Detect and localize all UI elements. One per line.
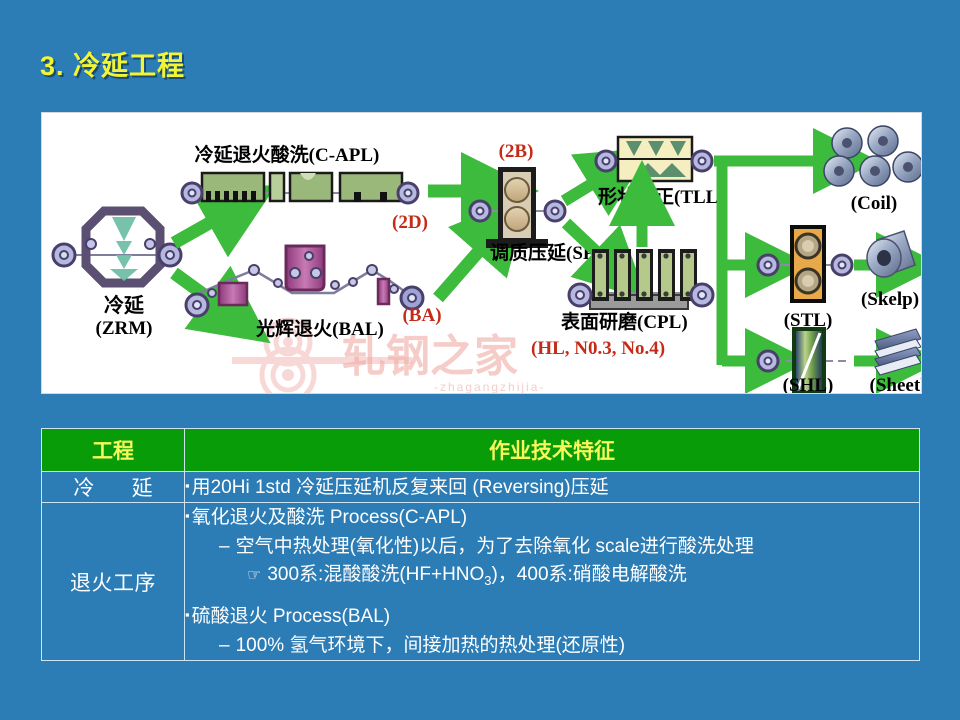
row-features: ▪氧化退火及酸洗 Process(C-APL) –空气中热处理(氧化性)以后，为… [185, 503, 920, 661]
dash-icon: – [219, 536, 230, 557]
row-process-name: 冷 延 [42, 472, 185, 503]
feature-line-a: 300系:混酸酸洗(HF+HNO [267, 564, 484, 585]
arrow-zrm-capl [174, 217, 220, 243]
feature-line: 100% 氢气环境下，间接加热的热处理(还原性) [236, 635, 626, 656]
bullet-icon: ▪ [185, 508, 190, 523]
finish-label-ba: (BA) [402, 305, 441, 326]
table-row: 退火工序 ▪氧化退火及酸洗 Process(C-APL) –空气中热处理(氧化性… [42, 503, 920, 661]
table-row: 冷 延 ▪用20Hi 1std 冷延压延机反复来回 (Reversing)压延 [42, 472, 920, 503]
product-sheet: (Sheet) [870, 329, 921, 393]
dash-icon: – [219, 635, 230, 656]
bullet-icon: ▪ [185, 478, 190, 493]
node-capl-label: 冷延退火酸洗(C-APL) [195, 143, 380, 166]
process-feature-table: 工程 作业技术特征 冷 延 ▪用20Hi 1std 冷延压延机反复来回 (Rev… [41, 428, 920, 661]
node-bal: 光辉退火(BAL) (BA) [186, 246, 442, 340]
col-header-features: 作业技术特征 [185, 429, 920, 472]
node-stl: (STL) [758, 225, 852, 331]
feature-line: 空气中热处理(氧化性)以后，为了去除氧化 scale进行酸洗处理 [236, 536, 754, 557]
table-header-row: 工程 作业技术特征 [42, 429, 920, 472]
node-zrm: 冷延 (ZRM) [53, 211, 181, 339]
node-shl: (SHL) [758, 327, 848, 393]
feature-line-b: )，400系:硝酸电解酸洗 [491, 564, 686, 585]
pointing-hand-icon: ☞ [247, 567, 261, 584]
node-shl-code: (SHL) [783, 375, 834, 393]
arrow-bal-spm [438, 243, 486, 298]
node-zrm-label: 冷延 [104, 293, 145, 317]
feature-line: 用20Hi 1std 冷延压延机反复来回 (Reversing)压延 [192, 477, 609, 498]
node-tll: 形状校正(TLL) [596, 137, 725, 208]
product-coil: (Coil) [824, 126, 921, 214]
row-features: ▪用20Hi 1std 冷延压延机反复来回 (Reversing)压延 [185, 472, 920, 503]
bullet-icon: ▪ [185, 607, 190, 622]
product-coil-code: (Coil) [851, 193, 897, 214]
page-title: 3. 冷延工程 [40, 44, 185, 83]
watermark-subtext: -zhagangzhijia- [434, 380, 545, 393]
node-bal-label: 光辉退火(BAL) [255, 317, 384, 340]
finish-label-hl: (HL, N0.3, No.4) [531, 338, 665, 359]
arrow-spm-tll [564, 179, 600, 201]
node-cpl-label: 表面研磨(CPL) [561, 310, 688, 333]
feature-line: 硫酸退火 Process(BAL) [192, 606, 390, 627]
row-process-name: 退火工序 [42, 503, 185, 661]
node-tll-label: 形状校正(TLL) [598, 185, 725, 208]
feature-line: 氧化退火及酸洗 Process(C-APL) [192, 507, 468, 528]
product-skelp-code: (Skelp) [861, 289, 919, 310]
finish-label-2d: (2D) [392, 212, 428, 233]
node-zrm-code: (ZRM) [96, 318, 153, 339]
node-cpl: 表面研磨(CPL) (HL, N0.3, No.4) [531, 249, 713, 359]
finish-label-2b: (2B) [499, 141, 534, 162]
process-flow-diagram: 轧钢之家 -zhagangzhijia- 冷延 (ZRM) [41, 112, 922, 394]
col-header-process: 工程 [42, 429, 185, 472]
product-sheet-code: (Sheet) [870, 375, 921, 393]
